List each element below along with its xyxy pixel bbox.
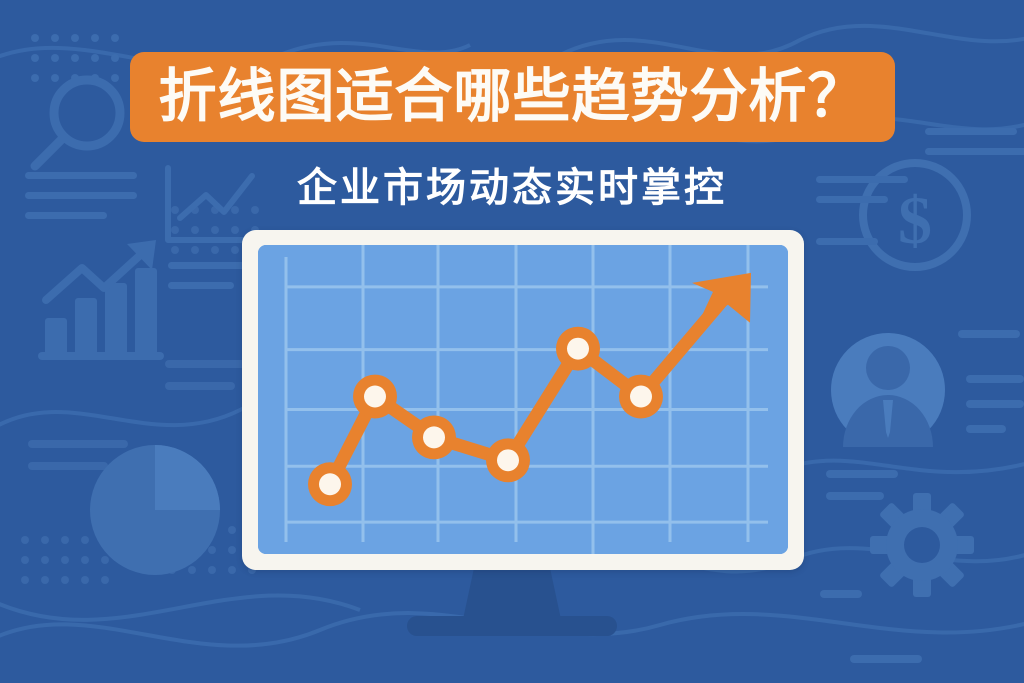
data-point-2 xyxy=(353,375,397,419)
data-point-5 xyxy=(619,375,663,419)
desktop-monitor xyxy=(242,230,804,570)
headline-banner: 折线图适合哪些趋势分析？ xyxy=(130,52,895,142)
page-subtitle: 企业市场动态实时掌控 xyxy=(0,155,1024,213)
data-point-1 xyxy=(308,462,352,506)
data-point-6 xyxy=(486,438,530,482)
data-point-4 xyxy=(556,327,600,371)
poster-canvas: $ xyxy=(0,0,1024,683)
page-title: 折线图适合哪些趋势分析？ xyxy=(158,68,866,126)
monitor-screen xyxy=(258,245,788,554)
pie-chart-icon xyxy=(90,445,220,575)
line-chart-svg xyxy=(258,245,788,554)
monitor-stand-base xyxy=(407,616,617,636)
data-point-3 xyxy=(412,415,456,459)
user-avatar-icon xyxy=(831,333,945,447)
gear-icon xyxy=(870,493,974,597)
